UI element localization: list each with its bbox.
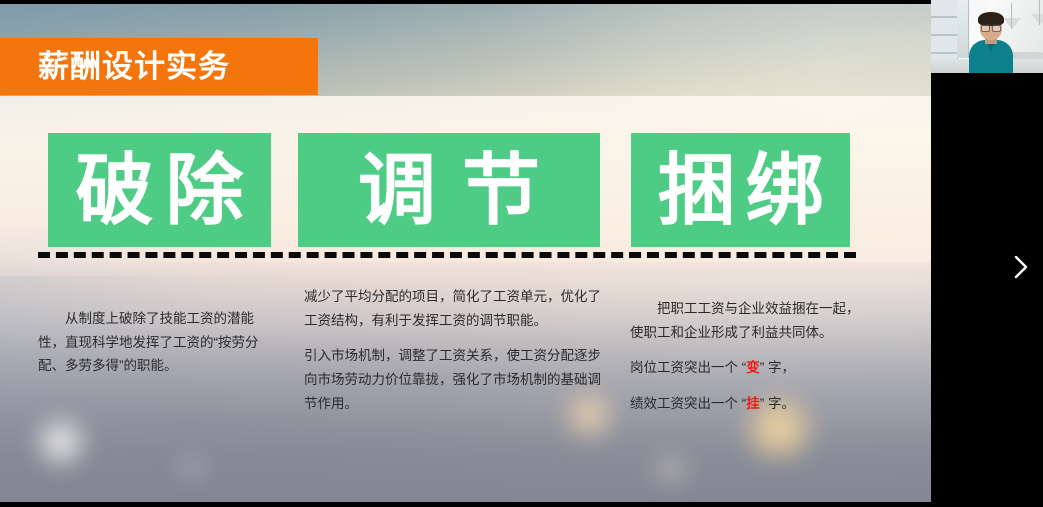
highlight-line-1-suffix: ” 字， bbox=[760, 360, 795, 375]
text-column-po-chu: 从制度上破除了技能工资的潜能性，直现科学地发挥了工资的“按劳分配、多劳多得”的职… bbox=[38, 307, 278, 378]
keyword-box-kun-bang: 捆绑 bbox=[631, 133, 850, 247]
webcam-window-right bbox=[957, 0, 969, 58]
paragraph: 引入市场机制，调整了工资关系，使工资分配逐步向市场劳动力价位靠拢，强化了市场机制… bbox=[304, 344, 604, 415]
highlight-line-2: 绩效工资突出一个 “挂” 字。 bbox=[630, 392, 868, 416]
highlight-word-bian: 变 bbox=[746, 360, 760, 375]
keyword-label-3: 捆绑 bbox=[657, 151, 833, 229]
keyword-box-tiao-jie: 调节 bbox=[298, 133, 600, 247]
slide-stage: 薪酬设计实务 破除 调节 捆绑 从制度上破除了技能工资的潜能性，直现科学地发挥了… bbox=[0, 0, 931, 507]
pendant-lamp-icon-1 bbox=[1003, 18, 1021, 29]
highlight-line-2-suffix: ” 字。 bbox=[760, 396, 795, 411]
bokeh-light-4 bbox=[650, 452, 692, 488]
highlight-line-1-prefix: 岗位工资突出一个 “ bbox=[630, 360, 746, 375]
slide-title-banner: 薪酬设计实务 bbox=[0, 38, 318, 95]
keyword-label-2: 调节 bbox=[358, 151, 566, 229]
slide-top-bar bbox=[0, 0, 931, 4]
text-column-kun-bang: 把职工工资与企业效益捆在一起，使职工和企业形成了利益共同体。 岗位工资突出一个 … bbox=[630, 297, 868, 416]
glasses-icon bbox=[981, 24, 1001, 30]
bokeh-light-5 bbox=[172, 452, 212, 482]
paragraph: 从制度上破除了技能工资的潜能性，直现科学地发挥了工资的“按劳分配、多劳多得”的职… bbox=[38, 307, 278, 378]
slide-bottom-bar bbox=[0, 502, 931, 507]
next-slide-button[interactable] bbox=[1006, 252, 1036, 282]
highlight-line-1: 岗位工资突出一个 “变” 字， bbox=[630, 356, 868, 380]
keyword-box-po-chu: 破除 bbox=[48, 133, 271, 247]
bokeh-light-1 bbox=[34, 415, 88, 469]
presenter-webcam[interactable] bbox=[931, 0, 1043, 73]
highlight-word-gua: 挂 bbox=[746, 396, 760, 411]
keyword-label-1: 破除 bbox=[75, 151, 255, 229]
highlight-line-2-prefix: 绩效工资突出一个 “ bbox=[630, 396, 746, 411]
page-title: 薪酬设计实务 bbox=[38, 51, 230, 82]
presentation-screen: 薪酬设计实务 破除 调节 捆绑 从制度上破除了技能工资的潜能性，直现科学地发挥了… bbox=[0, 0, 1043, 507]
text-column-tiao-jie: 减少了平均分配的项目，简化了工资单元，优化了工资结构，有利于发挥工资的调节职能。… bbox=[304, 285, 604, 415]
paragraph: 把职工工资与企业效益捆在一起，使职工和企业形成了利益共同体。 bbox=[630, 297, 868, 344]
pendant-lamp-icon-2 bbox=[1031, 14, 1043, 25]
chevron-right-icon bbox=[1012, 254, 1030, 280]
dashed-divider bbox=[38, 252, 856, 258]
paragraph: 减少了平均分配的项目，简化了工资单元，优化了工资结构，有利于发挥工资的调节职能。 bbox=[304, 285, 604, 332]
